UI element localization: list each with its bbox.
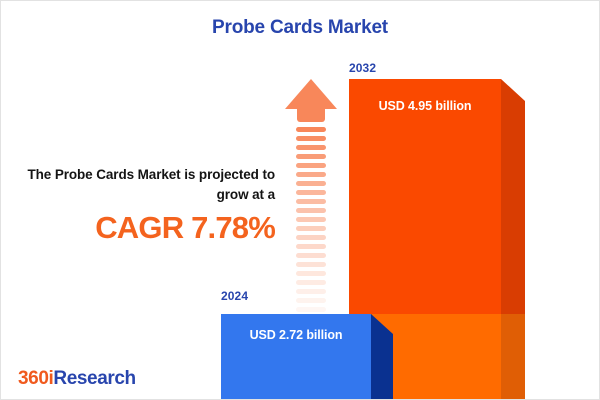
arrow-stripe — [296, 217, 326, 222]
bar-2032-front-upper — [349, 79, 501, 314]
logo-name: Research — [53, 368, 135, 389]
brand-logo: 360iResearch — [18, 368, 136, 390]
cagr-statement-text: The Probe Cards Market is projected to g… — [13, 165, 275, 204]
cagr-value: CAGR 7.78% — [13, 212, 275, 245]
arrow-head-icon — [285, 79, 337, 109]
arrow-stripe — [296, 280, 326, 285]
arrow-neck-icon — [297, 108, 325, 122]
bar-2024-front — [221, 314, 371, 400]
infographic-canvas: Probe Cards Market The Probe Cards Marke… — [0, 0, 600, 400]
arrow-stripe — [296, 298, 326, 303]
arrow-stripe — [296, 199, 326, 204]
arrow-stripe — [296, 253, 326, 258]
bar-value-2024: USD 2.72 billion — [221, 328, 371, 342]
arrow-stripe — [296, 307, 326, 312]
arrow-stripe — [296, 244, 326, 249]
up-arrow-icon — [285, 79, 337, 297]
arrow-stripe — [296, 226, 326, 231]
bar-value-2032: USD 4.95 billion — [349, 99, 501, 113]
arrow-stripe — [296, 145, 326, 150]
arrow-stripe — [296, 262, 326, 267]
logo-mark: 360i — [18, 368, 53, 389]
arrow-stripe — [296, 154, 326, 159]
bar-label-2032: 2032 — [349, 61, 376, 75]
bar-2032-side-lower — [501, 314, 525, 400]
bar-2024-side — [371, 314, 393, 400]
arrow-stripe — [296, 190, 326, 195]
arrow-stripe — [296, 271, 326, 276]
arrow-stripe — [296, 136, 326, 141]
statement-line-1: The Probe Cards Market is projected — [27, 167, 258, 182]
arrow-stripe — [296, 181, 326, 186]
arrow-stripe — [296, 127, 326, 132]
arrow-stripe — [296, 208, 326, 213]
arrow-stripe — [296, 172, 326, 177]
cagr-statement-block: The Probe Cards Market is projected to g… — [13, 165, 275, 245]
arrow-stripe — [296, 235, 326, 240]
page-title: Probe Cards Market — [1, 17, 599, 39]
bar-2024 — [221, 314, 393, 400]
bar-2032-side-upper — [501, 79, 525, 314]
arrow-stripe — [296, 163, 326, 168]
bar-label-2024: 2024 — [221, 289, 248, 303]
arrow-stripe — [296, 289, 326, 294]
